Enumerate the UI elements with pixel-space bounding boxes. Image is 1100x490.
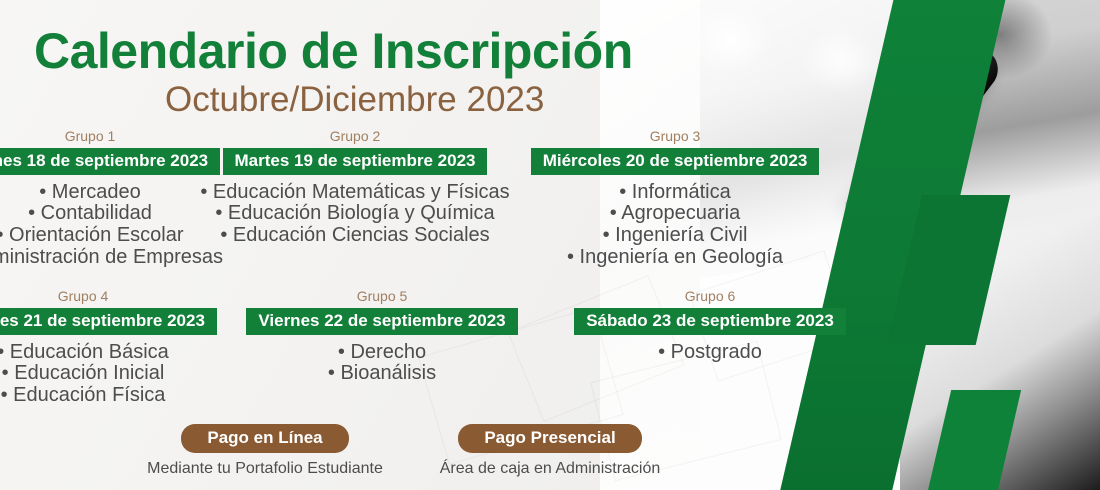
inscription-calendar-poster: Calendario de Inscripción Octubre/Diciem… xyxy=(0,0,1100,490)
list-item: • Educación Física xyxy=(0,385,228,407)
page-subtitle: Octubre/Diciembre 2023 xyxy=(165,80,544,120)
group-item-list: • Informática • Agropecuaria • Ingenierí… xyxy=(510,182,840,268)
group-date-badge: Martes 19 de septiembre 2023 xyxy=(223,148,488,175)
group-label: Grupo 2 xyxy=(190,128,520,144)
list-item: • Educación Básica xyxy=(0,342,228,364)
payment-note: Área de caja en Administración xyxy=(400,460,700,478)
group-item-list: • Postgrado xyxy=(555,342,865,364)
list-item: • Ingeniería en Geología xyxy=(510,247,840,269)
list-item: • Educación Inicial xyxy=(0,363,228,385)
group-label: Grupo 6 xyxy=(555,288,865,304)
list-item: • Educación Matemáticas y Físicas xyxy=(190,182,520,204)
list-item: • Bioanálisis xyxy=(237,363,527,385)
list-item: • Agropecuaria xyxy=(510,203,840,225)
payment-block-presencial: Pago Presencial Área de caja en Administ… xyxy=(400,424,700,478)
group-date-badge: Miércoles 20 de septiembre 2023 xyxy=(531,148,820,175)
group-item-list: • Derecho • Bioanálisis xyxy=(237,342,527,385)
list-item: • Educación Ciencias Sociales xyxy=(190,225,520,247)
group-block-5: Grupo 5 Viernes 22 de septiembre 2023 • … xyxy=(237,288,527,405)
group-date-badge: Jueves 21 de septiembre 2023 xyxy=(0,308,217,335)
group-label: Grupo 4 xyxy=(0,288,228,304)
group-block-2: Grupo 2 Martes 19 de septiembre 2023 • E… xyxy=(190,128,520,267)
group-label: Grupo 3 xyxy=(510,128,840,144)
page-title: Calendario de Inscripción xyxy=(34,22,633,80)
payment-block-online: Pago en Línea Mediante tu Portafolio Est… xyxy=(130,424,400,478)
group-date-badge: Sábado 23 de septiembre 2023 xyxy=(574,308,846,335)
group-date-badge: Viernes 22 de septiembre 2023 xyxy=(246,308,517,335)
group-block-6: Grupo 6 Sábado 23 de septiembre 2023 • P… xyxy=(555,288,865,383)
list-item: • Informática xyxy=(510,182,840,204)
list-item: • Derecho xyxy=(237,342,527,364)
list-item: • Educación Biología y Química xyxy=(190,203,520,225)
group-block-3: Grupo 3 Miércoles 20 de septiembre 2023 … xyxy=(510,128,840,288)
group-label: Grupo 5 xyxy=(237,288,527,304)
list-item: • Ingeniería Civil xyxy=(510,225,840,247)
pago-en-linea-button[interactable]: Pago en Línea xyxy=(181,424,348,453)
group-item-list: • Educación Básica • Educación Inicial •… xyxy=(0,342,228,407)
pago-presencial-button[interactable]: Pago Presencial xyxy=(458,424,641,453)
list-item: • Postgrado xyxy=(555,342,865,364)
payment-note: Mediante tu Portafolio Estudiante xyxy=(130,460,400,478)
group-date-badge: Lunes 18 de septiembre 2023 xyxy=(0,148,220,175)
group-block-4: Grupo 4 Jueves 21 de septiembre 2023 • E… xyxy=(0,288,228,427)
group-item-list: • Educación Matemáticas y Físicas • Educ… xyxy=(190,182,520,247)
